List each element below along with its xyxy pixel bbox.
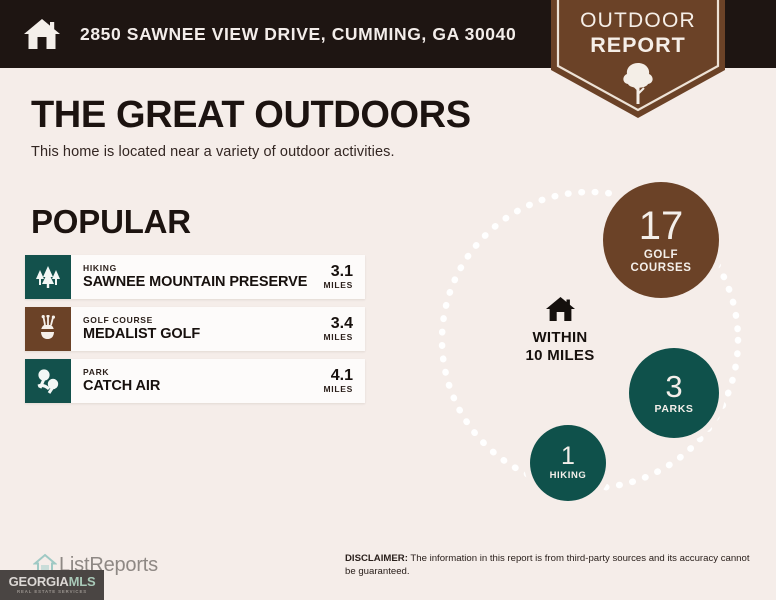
list-item-category: HIKING xyxy=(83,263,313,274)
home-icon xyxy=(505,295,615,323)
list-item-text: HIKING SAWNEE MOUNTAIN PRESERVE xyxy=(71,255,313,299)
list-item[interactable]: PARK CATCH AIR 4.1 MILES xyxy=(25,359,365,403)
title-block: THE GREAT OUTDOORS This home is located … xyxy=(31,93,471,160)
bubble-label-line-2: COURSES xyxy=(630,262,691,274)
bubble-label-line-1: GOLF xyxy=(644,249,678,261)
distance-value: 3.4 xyxy=(331,315,353,332)
mls-georgia-text: GEORGIA xyxy=(9,574,69,589)
distance-unit: MILES xyxy=(324,384,353,395)
disclaimer-label: DISCLAIMER: xyxy=(345,553,408,564)
outdoor-report-badge: OUTDOOR REPORT xyxy=(551,0,725,118)
georgia-mls-logo: GEORGIAMLS REAL ESTATE SERVICES xyxy=(0,570,104,600)
disclaimer: DISCLAIMER: The information in this repo… xyxy=(345,553,760,578)
bubble-hiking[interactable]: 1 HIKING xyxy=(530,425,606,501)
bubble-value: 1 xyxy=(561,444,575,469)
popular-heading: POPULAR xyxy=(31,203,191,241)
bubble-value: 3 xyxy=(665,371,682,402)
list-item-distance: 4.1 MILES xyxy=(313,359,365,403)
list-item-name: MEDALIST GOLF xyxy=(83,326,313,343)
list-item[interactable]: HIKING SAWNEE MOUNTAIN PRESERVE 3.1 MILE… xyxy=(25,255,365,299)
distance-value: 4.1 xyxy=(331,367,353,384)
distance-unit: MILES xyxy=(324,280,353,291)
list-item-category: PARK xyxy=(83,367,313,378)
bubble-value: 17 xyxy=(639,206,684,246)
list-item-text: PARK CATCH AIR xyxy=(71,359,313,403)
mls-mls-text: MLS xyxy=(69,574,96,589)
pine-trees-icon xyxy=(25,255,71,299)
within-10-miles-chart: WITHIN 10 MILES 17 GOLF COURSES 3 PARKS … xyxy=(420,170,760,520)
list-item-distance: 3.4 MILES xyxy=(313,307,365,351)
home-icon xyxy=(22,17,62,51)
mls-subtitle: REAL ESTATE SERVICES xyxy=(17,589,87,595)
center-label-line-1: WITHIN xyxy=(505,329,615,347)
mls-wordmark: GEORGIAMLS xyxy=(9,575,96,589)
list-item[interactable]: GOLF COURSE MEDALIST GOLF 3.4 MILES xyxy=(25,307,365,351)
list-item-category: GOLF COURSE xyxy=(83,315,313,326)
golf-bag-icon xyxy=(25,307,71,351)
property-address: 2850 SAWNEE VIEW DRIVE, CUMMING, GA 3004… xyxy=(80,24,516,45)
distance-unit: MILES xyxy=(324,332,353,343)
bubble-label-line-1: HIKING xyxy=(550,471,587,481)
bubble-parks[interactable]: 3 PARKS xyxy=(629,348,719,438)
popular-list: HIKING SAWNEE MOUNTAIN PRESERVE 3.1 MILE… xyxy=(25,255,365,411)
chart-center-label: WITHIN 10 MILES xyxy=(505,295,615,365)
distance-value: 3.1 xyxy=(331,263,353,280)
page-subtitle: This home is located near a variety of o… xyxy=(31,144,471,160)
bubble-label-line-1: PARKS xyxy=(655,404,694,415)
list-item-text: GOLF COURSE MEDALIST GOLF xyxy=(71,307,313,351)
list-item-name: CATCH AIR xyxy=(83,378,313,395)
bubble-golf-courses[interactable]: 17 GOLF COURSES xyxy=(603,182,719,298)
page-title: THE GREAT OUTDOORS xyxy=(31,93,471,137)
list-item-distance: 3.1 MILES xyxy=(313,255,365,299)
center-label-line-2: 10 MILES xyxy=(505,347,615,365)
list-item-name: SAWNEE MOUNTAIN PRESERVE xyxy=(83,274,313,291)
park-trees-icon xyxy=(25,359,71,403)
